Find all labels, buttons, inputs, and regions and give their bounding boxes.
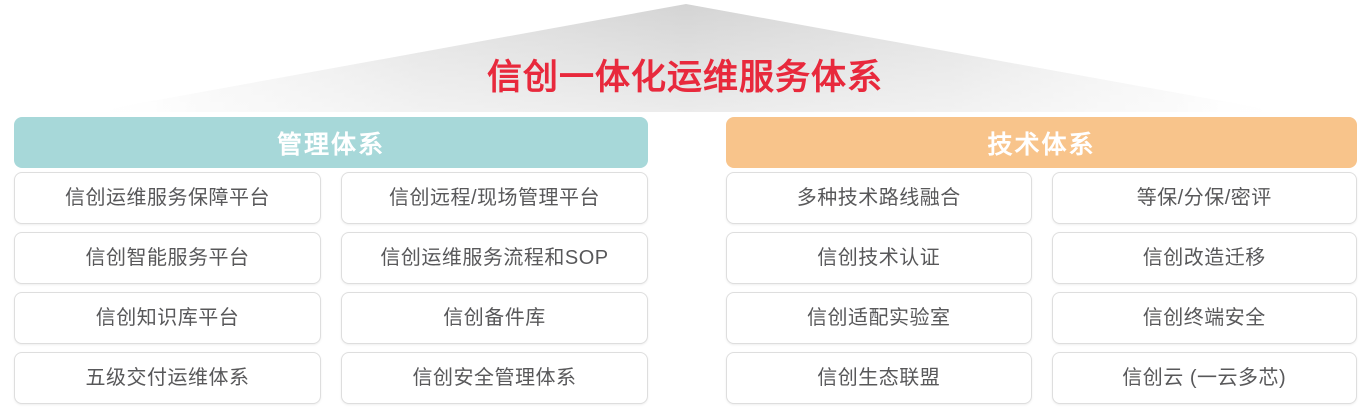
diagram-title: 信创一体化运维服务体系 — [0, 56, 1370, 100]
cell-label: 信创智能服务平台 — [86, 245, 250, 271]
cell-item[interactable]: 信创云 (一云多芯) — [1052, 352, 1358, 404]
cell-item[interactable]: 多种技术路线融合 — [726, 172, 1032, 224]
cell-item[interactable]: 信创终端安全 — [1052, 292, 1358, 344]
cell-item[interactable]: 信创生态联盟 — [726, 352, 1032, 404]
cell-item[interactable]: 信创运维服务保障平台 — [14, 172, 321, 224]
cell-item[interactable]: 等保/分保/密评 — [1052, 172, 1358, 224]
cell-label: 信创技术认证 — [817, 245, 940, 271]
group-header-management: 管理体系 — [14, 117, 648, 168]
cell-item[interactable]: 信创安全管理体系 — [341, 352, 648, 404]
cell-item[interactable]: 信创远程/现场管理平台 — [341, 172, 648, 224]
cell-item[interactable]: 信创智能服务平台 — [14, 232, 321, 284]
cell-item[interactable]: 信创技术认证 — [726, 232, 1032, 284]
cell-item[interactable]: 信创运维服务流程和SOP — [341, 232, 648, 284]
cell-label: 多种技术路线融合 — [797, 185, 961, 211]
cell-item[interactable]: 五级交付运维体系 — [14, 352, 321, 404]
cell-label: 信创安全管理体系 — [413, 365, 577, 391]
cell-grid-management: 信创运维服务保障平台 信创远程/现场管理平台 信创智能服务平台 信创运维服务流程… — [14, 172, 648, 404]
cell-label: 信创生态联盟 — [817, 365, 940, 391]
cell-label: 信创改造迁移 — [1143, 245, 1266, 271]
cell-item[interactable]: 信创改造迁移 — [1052, 232, 1358, 284]
cell-label: 信创云 (一云多芯) — [1122, 365, 1286, 391]
cell-label: 五级交付运维体系 — [86, 365, 250, 391]
cell-item[interactable]: 信创知识库平台 — [14, 292, 321, 344]
group-header-technology: 技术体系 — [726, 117, 1357, 168]
cell-label: 信创远程/现场管理平台 — [389, 185, 600, 211]
cell-label: 信创运维服务保障平台 — [65, 185, 270, 211]
cell-label: 等保/分保/密评 — [1137, 185, 1272, 211]
cell-grid-technology: 多种技术路线融合 等保/分保/密评 信创技术认证 信创改造迁移 信创适配实验室 … — [726, 172, 1357, 404]
cell-label: 信创知识库平台 — [96, 305, 240, 331]
cell-label: 信创备件库 — [443, 305, 546, 331]
group-technology-system: 技术体系 多种技术路线融合 等保/分保/密评 信创技术认证 信创改造迁移 信创适… — [726, 117, 1357, 404]
group-management-system: 管理体系 信创运维服务保障平台 信创远程/现场管理平台 信创智能服务平台 信创运… — [14, 117, 648, 404]
cell-label: 信创运维服务流程和SOP — [380, 245, 608, 271]
cell-label: 信创终端安全 — [1143, 305, 1266, 331]
cell-item[interactable]: 信创备件库 — [341, 292, 648, 344]
cell-label: 信创适配实验室 — [807, 305, 951, 331]
cell-item[interactable]: 信创适配实验室 — [726, 292, 1032, 344]
diagram-canvas: 信创一体化运维服务体系 管理体系 信创运维服务保障平台 信创远程/现场管理平台 … — [0, 0, 1370, 418]
